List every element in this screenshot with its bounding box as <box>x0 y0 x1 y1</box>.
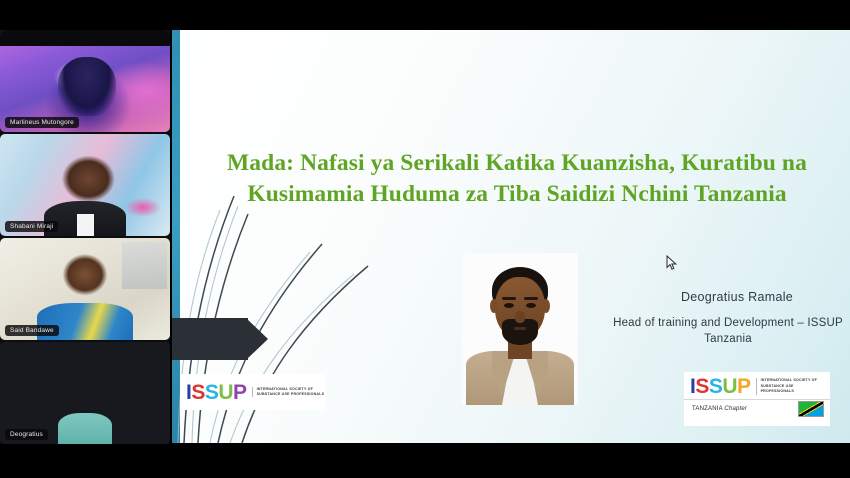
issup-letter-u: U <box>722 376 737 397</box>
screen-share-stage: Marlineus Mutongore Shabani Miraji Said … <box>0 0 850 478</box>
issup-tagline: International Society of Substance Use P… <box>252 387 325 398</box>
participant-tile-1[interactable]: Marlineus Mutongore <box>0 30 170 132</box>
chapter-label: TANZANIA Chapter <box>692 406 747 412</box>
issup-letter-u: U <box>218 382 233 403</box>
tanzania-flag-icon <box>798 401 824 417</box>
participant-name-label: Said Bandawe <box>5 325 59 337</box>
speaker-role: Head of training and Development – ISSUP… <box>612 315 844 348</box>
issup-tagline: International Society of Substance Use P… <box>756 378 825 394</box>
issup-letter-s2: S <box>205 382 219 403</box>
slide-title: Mada: Nafasi ya Serikali Katika Kuanzish… <box>202 148 832 211</box>
speaker-name: Deogratius Ramale <box>632 290 842 304</box>
participant-name-label: Deogratius <box>5 429 48 441</box>
participant-name-label: Marlineus Mutongore <box>5 117 79 129</box>
participant-name-label: Shabani Miraji <box>5 221 58 233</box>
shared-slide[interactable]: Mada: Nafasi ya Serikali Katika Kuanzish… <box>172 30 850 443</box>
issup-wordmark: I S S U P <box>186 382 247 403</box>
participant-tile-4[interactable]: Deogratius <box>0 342 170 444</box>
mouse-cursor-icon <box>666 255 678 271</box>
issup-letter-p: P <box>233 382 247 403</box>
issup-logo: I S S U P International Society of Subst… <box>180 374 325 410</box>
issup-tanzania-logo: I S S U P International Society of Subst… <box>684 372 830 426</box>
chapter-word: Chapter <box>724 406 747 412</box>
participant-filmstrip: Marlineus Mutongore Shabani Miraji Said … <box>0 30 170 444</box>
participant-tile-2[interactable]: Shabani Miraji <box>0 134 170 236</box>
participant-tile-3[interactable]: Said Bandawe <box>0 238 170 340</box>
issup-letter-s1: S <box>191 382 205 403</box>
issup-letter-s1: S <box>695 376 709 397</box>
issup-letter-p: P <box>737 376 751 397</box>
chapter-country: TANZANIA <box>692 406 723 412</box>
issup-letter-s2: S <box>709 376 723 397</box>
issup-wordmark: I S S U P <box>690 376 751 397</box>
arrow-banner-decoration <box>172 318 267 360</box>
speaker-portrait-photo <box>462 253 578 405</box>
